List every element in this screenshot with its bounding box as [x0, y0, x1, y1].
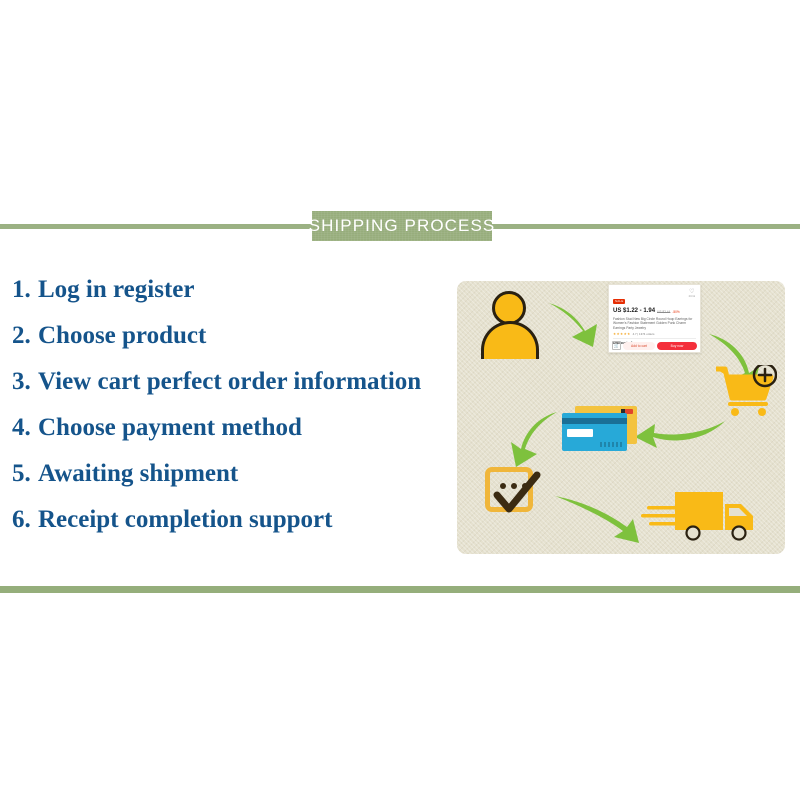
shipping-process-infographic: SHIPPING PROCESS 1. Log in register 2. C…	[0, 0, 800, 800]
process-illustration-panel: SALE ♡ 23.1k US $1.22 - 1.94 US $2.44 -5…	[457, 281, 785, 554]
step-label: Log in register	[38, 276, 194, 304]
sale-badge: SALE	[613, 299, 625, 304]
order-confirmed-check-icon	[485, 467, 541, 519]
step-number: 6.	[12, 506, 38, 534]
add-to-cart-icon	[715, 365, 777, 420]
arrow-cards-to-check	[511, 412, 557, 467]
step-label: Receipt completion support	[38, 506, 332, 534]
title-rule-right	[484, 224, 800, 229]
product-price: US $1.22 - 1.94	[613, 308, 655, 315]
section-title-box: SHIPPING PROCESS	[312, 211, 492, 241]
page-title: SHIPPING PROCESS	[309, 216, 496, 236]
product-listing-card: SALE ♡ 23.1k US $1.22 - 1.94 US $2.44 -5…	[608, 284, 701, 353]
list-item: 4. Choose payment method	[12, 414, 452, 460]
arrow-user-to-product	[549, 303, 597, 347]
list-item: 5. Awaiting shipment	[12, 460, 452, 506]
buy-now-button[interactable]: Buy now	[657, 342, 697, 350]
rating-row: ★★★★★ 4.7 | 1374 orders	[613, 332, 696, 336]
credit-card-payment-icon	[562, 406, 637, 451]
step-number: 1.	[12, 276, 38, 304]
step-label: View cart perfect order information	[38, 368, 421, 396]
arrow-check-to-truck	[555, 496, 639, 543]
footer-divider	[0, 586, 800, 593]
step-number: 5.	[12, 460, 38, 488]
card-magnetic-stripe	[562, 418, 627, 424]
step-label: Awaiting shipment	[38, 460, 238, 488]
list-item: 3. View cart perfect order information	[12, 368, 452, 414]
step-label: Choose payment method	[38, 414, 302, 442]
step-label: Choose product	[38, 322, 206, 350]
arrow-cart-to-cards	[635, 421, 725, 448]
rating-text: 4.7 | 1374 orders	[633, 332, 655, 336]
wishlist-button[interactable]: ♡ 23.1k	[689, 289, 695, 298]
wishlist-count: 23.1k	[689, 295, 695, 298]
list-item: 2. Choose product	[12, 322, 452, 368]
user-head-shape	[492, 291, 526, 325]
list-item: 1. Log in register	[12, 276, 452, 322]
product-description: Fashion Stud New Big Circle Round Hoop E…	[613, 317, 696, 330]
card-number-bar	[600, 442, 622, 447]
user-account-icon	[481, 291, 539, 359]
section-title-block: SHIPPING PROCESS	[0, 211, 800, 243]
add-to-cart-button[interactable]: Add to cart	[623, 342, 655, 350]
cart-icon[interactable]: 🛒	[612, 341, 621, 350]
product-actions: 🛒 Add to cart Buy now	[609, 341, 700, 350]
price-row: US $1.22 - 1.94 US $2.44 -50%	[613, 308, 696, 315]
product-price-original: US $2.44	[657, 310, 670, 314]
list-item: 6. Receipt completion support	[12, 506, 452, 552]
discount-badge: -50%	[672, 310, 679, 314]
step-number: 2.	[12, 322, 38, 350]
delivery-truck-icon	[641, 488, 759, 543]
star-rating-icon: ★★★★★	[613, 332, 631, 336]
card-signature-box	[567, 429, 593, 437]
shipping-steps-list: 1. Log in register 2. Choose product 3. …	[12, 276, 452, 552]
user-body-shape	[481, 321, 539, 359]
step-number: 4.	[12, 414, 38, 442]
step-number: 3.	[12, 368, 38, 396]
title-rule-left	[0, 224, 330, 229]
primary-card-shape	[562, 413, 627, 451]
